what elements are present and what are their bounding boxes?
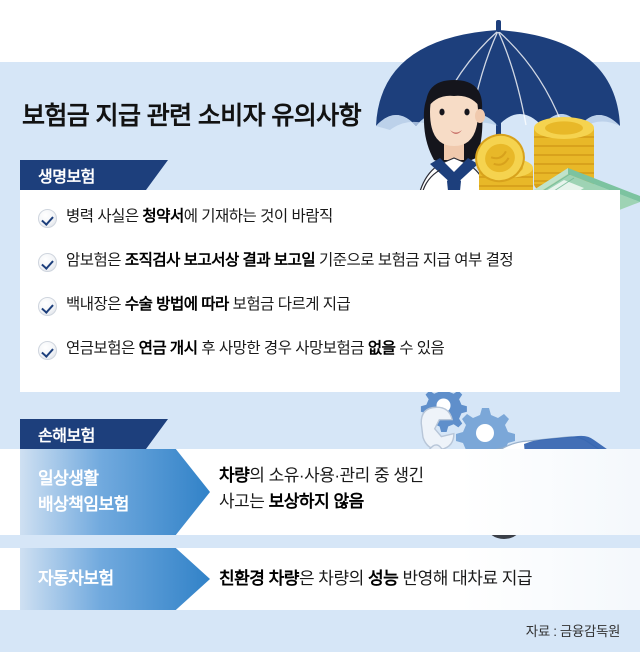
life-insurance-bullet-list: 병력 사실은 청약서에 기재하는 것이 바람직 암보험은 조직검사 보고서상 결… [20, 190, 620, 382]
life-insurance-card: 병력 사실은 청약서에 기재하는 것이 바람직 암보험은 조직검사 보고서상 결… [20, 190, 620, 392]
infographic-root: 10000 10000 보험금 지급 관련 소비자 유의사항 생명보험 병력 사… [0, 0, 640, 658]
row-label-line2: 배상책임보험 [38, 492, 210, 518]
list-item: 병력 사실은 청약서에 기재하는 것이 바람직 [38, 206, 620, 250]
list-item: 백내장은 수술 방법에 따라 보험금 다르게 지급 [38, 294, 620, 338]
list-item: 연금보험은 연금 개시 후 사망한 경우 사망보험금 없을 수 있음 [38, 338, 620, 382]
background-bottom-strip [0, 652, 640, 658]
bullet-text: 백내장은 수술 방법에 따라 보험금 다르게 지급 [66, 294, 350, 316]
bullet-text: 병력 사실은 청약서에 기재하는 것이 바람직 [66, 206, 333, 228]
source-credit: 자료 : 금융감독원 [526, 620, 620, 640]
section-tab-life-label: 생명보험 [38, 163, 95, 187]
row-description-line1: 차량의 소유·사용·관리 중 생긴 [219, 463, 424, 489]
row-label-daily-life-liability: 일상생활 배상책임보험 [20, 449, 210, 535]
list-item: 암보험은 조직검사 보고서상 결과 보고일 기준으로 보험금 지급 여부 결정 [38, 250, 620, 294]
row-label-line1: 일상생활 [38, 466, 210, 492]
row-label-line1: 자동차보험 [38, 567, 210, 591]
check-circle-icon [38, 209, 57, 228]
row-description-auto-insurance: 친환경 차량은 차량의 성능 반영해 대차료 지급 [219, 566, 532, 592]
section-tab-life-insurance: 생명보험 [20, 160, 168, 190]
section-tab-nonlife-label: 손해보험 [38, 422, 95, 446]
page-title: 보험금 지급 관련 소비자 유의사항 [22, 96, 361, 132]
row-description-line2: 사고는 보상하지 않음 [219, 489, 424, 515]
row-label-auto-insurance: 자동차보험 [20, 548, 210, 610]
check-circle-icon [38, 341, 57, 360]
row-description-daily-life-liability: 차량의 소유·사용·관리 중 생긴 사고는 보상하지 않음 [219, 463, 424, 515]
section-tab-nonlife-insurance: 손해보험 [20, 419, 168, 449]
bullet-text: 연금보험은 연금 개시 후 사망한 경우 사망보험금 없을 수 있음 [66, 338, 444, 360]
check-circle-icon [38, 297, 57, 316]
check-circle-icon [38, 253, 57, 272]
bullet-text: 암보험은 조직검사 보고서상 결과 보고일 기준으로 보험금 지급 여부 결정 [66, 250, 513, 272]
